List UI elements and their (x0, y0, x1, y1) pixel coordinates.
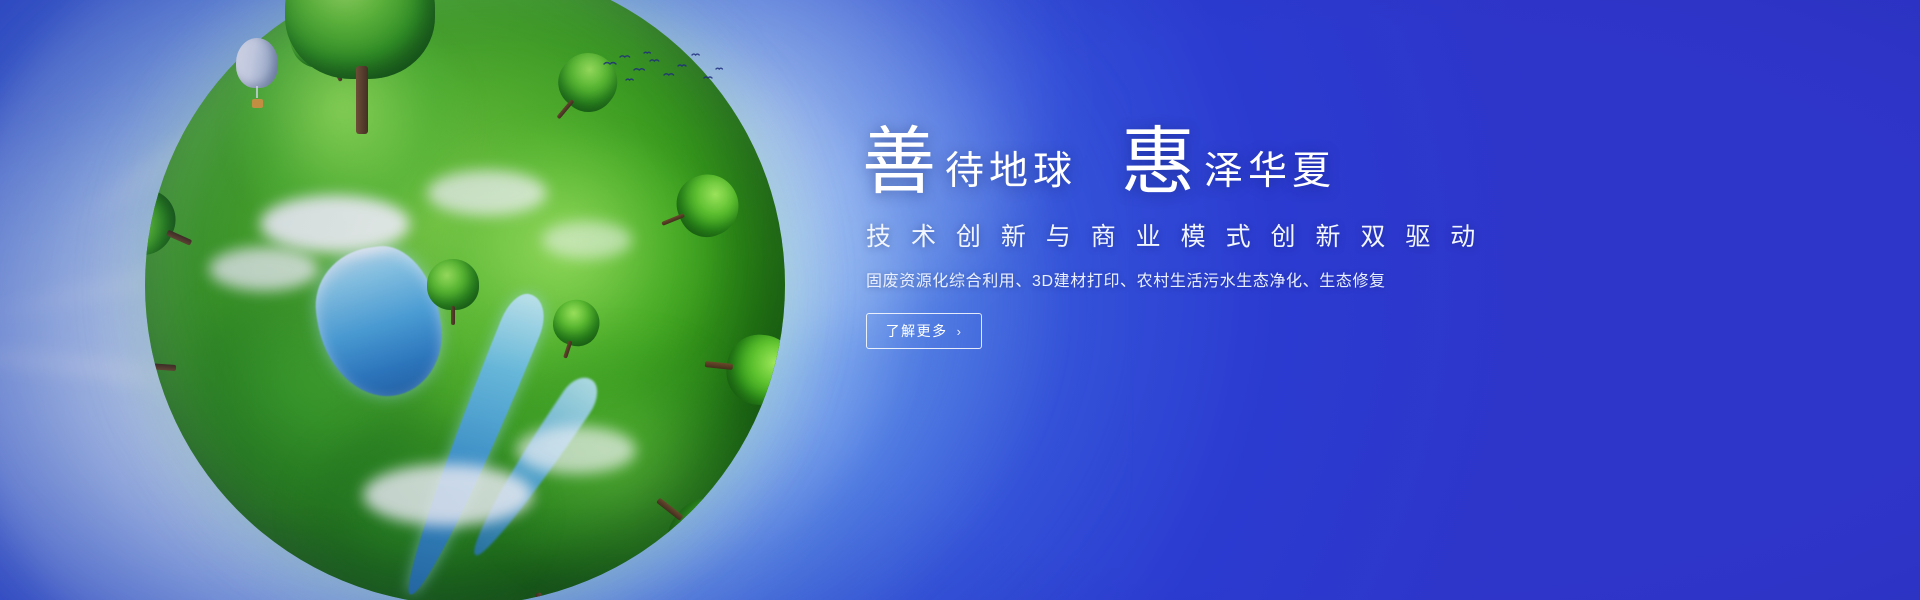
tree-icon (427, 259, 479, 325)
cloud-icon (427, 170, 547, 216)
tree-icon (701, 329, 785, 408)
headline-part2-large: 惠 (1121, 128, 1196, 199)
hot-air-balloon-icon (236, 38, 278, 110)
tree-icon (285, 0, 435, 128)
tree-icon (145, 325, 178, 406)
cloud-icon (363, 464, 533, 526)
chevron-right-icon: › (957, 324, 963, 339)
headline-part1-large: 善 (862, 128, 937, 199)
description-text: 固废资源化综合利用、3D建材打印、农村生活污水生态净化、生态修复 (866, 267, 1562, 291)
page-title: 善 待地球 惠 泽华夏 (862, 128, 1562, 199)
headline-part1-small: 待地球 (945, 152, 1077, 199)
cloud-icon (260, 195, 410, 253)
headline-part2-small: 泽华夏 (1204, 152, 1336, 199)
cloud-icon (542, 221, 632, 259)
tagline: 技 术 创 新 与 商 业 模 式 创 新 双 驱 动 (866, 217, 1562, 253)
hero-banner: 善 待地球 惠 泽华夏 技 术 创 新 与 商 业 模 式 创 新 双 驱 动 … (0, 0, 1920, 600)
tree-icon (145, 178, 204, 273)
hero-content: 善 待地球 惠 泽华夏 技 术 创 新 与 商 业 模 式 创 新 双 驱 动 … (862, 128, 1562, 349)
cloud-icon (516, 426, 636, 474)
flock-of-birds-icon (600, 50, 730, 90)
learn-more-button[interactable]: 了解更多 › (866, 313, 982, 349)
cloud-icon (209, 247, 319, 291)
learn-more-label: 了解更多 (886, 321, 948, 341)
